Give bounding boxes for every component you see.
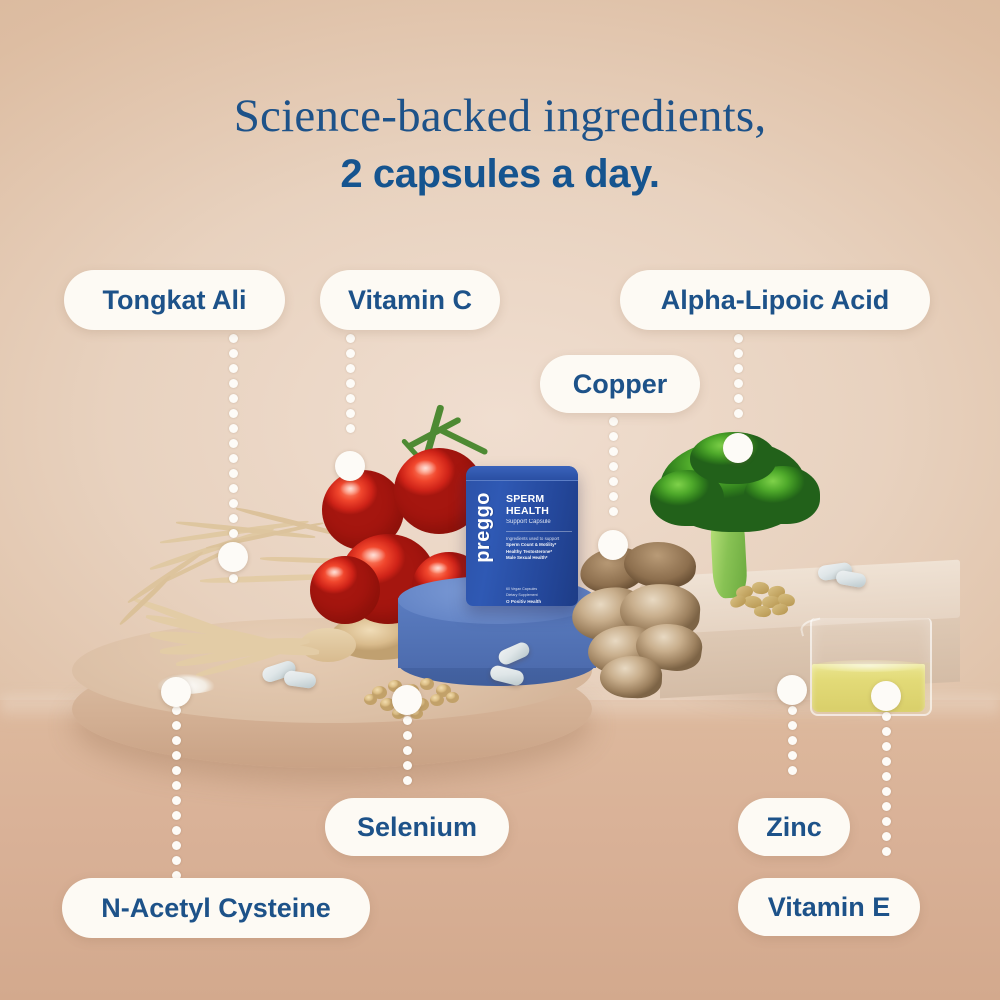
jar-divider <box>506 531 572 532</box>
jar-title-line1: SPERM <box>506 494 572 506</box>
connector-line-alpha-lipoic-acid <box>734 334 743 418</box>
product-ingredients-infographic: preggo SPERM HEALTH Support Capsule Ingr… <box>0 0 1000 1000</box>
connector-line-vitamin-e <box>882 712 891 856</box>
jar-title-line2: HEALTH <box>506 506 572 518</box>
jar-subtitle: Support Capsule <box>506 519 572 525</box>
jar-footer-line2: Dietary Supplement <box>506 593 538 598</box>
ingredient-label: Alpha-Lipoic Acid <box>661 285 890 316</box>
ingredient-label: Tongkat Ali <box>103 285 247 316</box>
headline-line-2: 2 capsules a day. <box>0 153 1000 195</box>
jar-benefit: Healthy Testosterone* <box>506 549 572 556</box>
ingredient-pill-alpha-lipoic-acid[interactable]: Alpha-Lipoic Acid <box>620 270 930 330</box>
ingredient-pill-vitamin-e[interactable]: Vitamin E <box>738 878 920 936</box>
ingredient-pill-selenium[interactable]: Selenium <box>325 798 509 856</box>
connector-line-zinc <box>788 706 797 775</box>
jar-benefits-intro: Ingredients used to support <box>506 536 572 543</box>
anchor-dot-zinc <box>777 675 807 705</box>
anchor-dot-n-acetyl-cysteine <box>161 677 191 707</box>
ingredient-label: Copper <box>573 369 668 400</box>
ingredient-pill-tongkat-ali[interactable]: Tongkat Ali <box>64 270 285 330</box>
headline-line-1: Science-backed ingredients, <box>0 92 1000 141</box>
headline: Science-backed ingredients, 2 capsules a… <box>0 92 1000 195</box>
ingredient-label: Zinc <box>766 812 822 843</box>
oil-surface <box>814 660 923 672</box>
jar-company-logo: O Positiv Health <box>506 599 541 604</box>
jar-label-text: SPERM HEALTH Support Capsule Ingredients… <box>506 494 572 562</box>
ingredient-pill-copper[interactable]: Copper <box>540 355 700 413</box>
ingredient-label: Selenium <box>357 812 477 843</box>
ingredient-label: N-Acetyl Cysteine <box>101 893 331 924</box>
anchor-dot-copper <box>598 530 628 560</box>
jar-benefit: Sperm Count & Motility* <box>506 542 572 549</box>
connector-line-selenium <box>403 716 412 785</box>
anchor-dot-vitamin-e <box>871 681 901 711</box>
connector-line-n-acetyl-cysteine <box>172 706 181 895</box>
ingredient-pill-n-acetyl-cysteine[interactable]: N-Acetyl Cysteine <box>62 878 370 938</box>
anchor-dot-tongkat-ali <box>218 542 248 572</box>
connector-line-copper <box>609 417 618 516</box>
ingredient-label: Vitamin E <box>768 892 891 923</box>
ingredient-label: Vitamin C <box>348 285 472 316</box>
anchor-dot-alpha-lipoic-acid <box>723 433 753 463</box>
anchor-dot-selenium <box>392 685 422 715</box>
anchor-dot-vitamin-c <box>335 451 365 481</box>
jar-footer: 60 Vegan Capsules Dietary Supplement <box>506 587 538 598</box>
jar-brand-name: preggo <box>472 492 495 563</box>
jar-lid <box>466 466 578 481</box>
jar-footer-line1: 60 Vegan Capsules <box>506 587 538 592</box>
ingredient-pill-zinc[interactable]: Zinc <box>738 798 850 856</box>
jar-benefit: Male Sexual Health* <box>506 555 572 562</box>
connector-line-vitamin-c <box>346 334 355 433</box>
ingredient-pill-vitamin-c[interactable]: Vitamin C <box>320 270 500 330</box>
product-jar: preggo SPERM HEALTH Support Capsule Ingr… <box>466 466 578 606</box>
